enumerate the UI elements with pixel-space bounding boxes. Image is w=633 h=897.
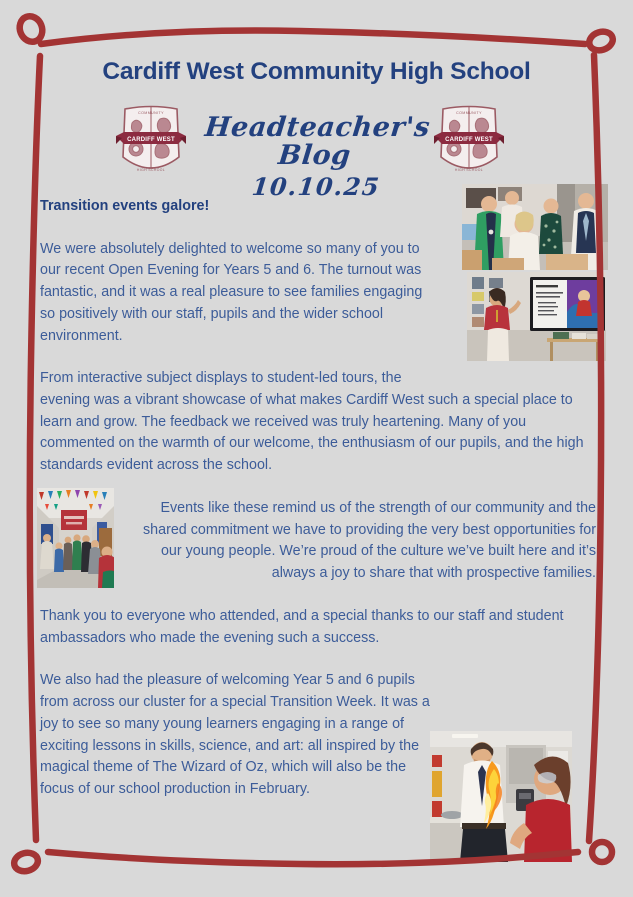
- school-crest-left-icon: COMMUNITY HIGH SCHOOL CARDIFF WEST: [114, 103, 188, 181]
- page-title: Cardiff West Community High School: [0, 58, 633, 86]
- crest-top-text: COMMUNITY: [138, 111, 164, 115]
- photo-school-corridor: [37, 488, 114, 588]
- crest-banner-text: CARDIFF WEST: [127, 137, 175, 143]
- crest-bottom-text: HIGH SCHOOL: [455, 168, 483, 172]
- paragraph-thank-you: Thank you to everyone who attended, and …: [40, 606, 596, 649]
- crest-top-text: COMMUNITY: [456, 111, 482, 115]
- photo-staff-group: [462, 184, 608, 270]
- photo-teacher-presenting: [467, 272, 606, 361]
- crest-bottom-text: HIGH SCHOOL: [137, 168, 165, 172]
- blog-title-block: Headteacher's Blog 10.10.25: [190, 114, 442, 200]
- blog-heading: Headteacher's Blog: [187, 114, 445, 171]
- paragraph-showcase: From interactive subject displays to stu…: [40, 368, 596, 477]
- blog-page: Cardiff West Community High School COMMU…: [0, 0, 633, 897]
- photo-science-lesson: [430, 731, 572, 862]
- crest-banner-text: CARDIFF WEST: [445, 137, 493, 143]
- blog-date: 10.10.25: [189, 173, 444, 201]
